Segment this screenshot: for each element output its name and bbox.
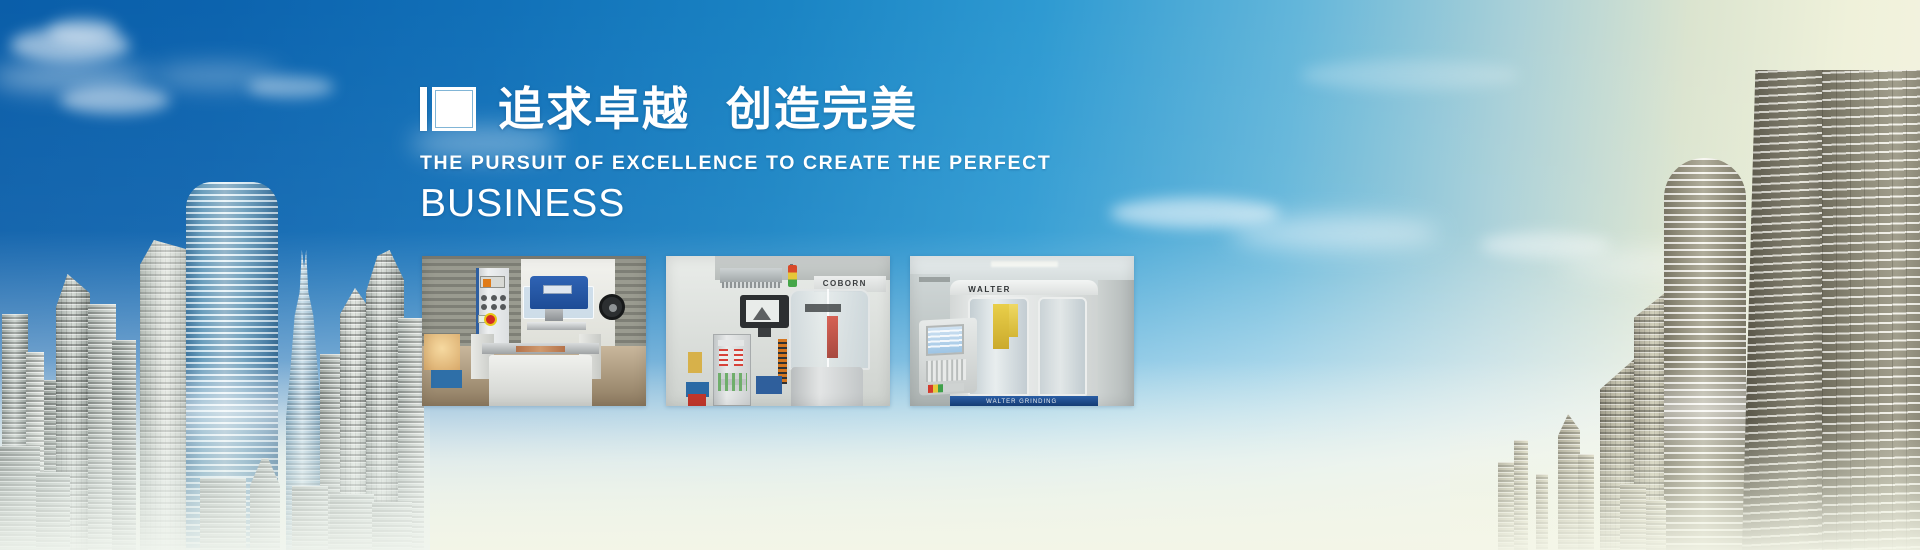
handwheel-icon	[599, 294, 625, 320]
vertical-bar-icon	[420, 87, 427, 131]
left-skyline	[0, 130, 430, 550]
title-row: 追求卓越 创造完美	[420, 86, 1180, 132]
glass-door	[1038, 297, 1087, 396]
photo-coborn-machine[interactable]: COBORN	[666, 256, 890, 406]
cloud-icon	[60, 86, 170, 114]
cloud-icon	[48, 18, 118, 44]
logo-mark	[420, 87, 476, 131]
hero-banner: 追求卓越 创造完美 THE PURSUIT OF EXCELLENCE TO C…	[0, 0, 1920, 550]
signal-tower-icon	[788, 265, 797, 287]
machine-brand-label: COBORN	[823, 279, 867, 288]
console-button-row	[928, 383, 964, 392]
photo-surface-grinder[interactable]	[422, 256, 646, 406]
subtitle-english: THE PURSUIT OF EXCELLENCE TO CREATE THE …	[420, 152, 1180, 175]
machine-brand-label: WALTER	[968, 285, 1011, 294]
orange-display-icon	[480, 276, 505, 288]
machine-base-label: WALTER GRINDING	[986, 399, 1057, 405]
square-outline-icon	[432, 87, 476, 131]
right-skyline	[1450, 70, 1920, 550]
photo-walter-machine[interactable]: WALTER WALTER GRINDING	[910, 256, 1134, 406]
skyline-haze	[1450, 420, 1920, 550]
cloud-icon	[1230, 216, 1440, 250]
skyline-haze	[0, 400, 430, 550]
console-keypad	[926, 358, 966, 381]
emergency-stop-icon	[484, 313, 497, 326]
product-photo-strip: COBORN	[422, 256, 1134, 406]
business-word: BUSINESS	[420, 183, 1180, 226]
monitor-screen	[746, 300, 780, 323]
page-title-chinese: 追求卓越 创造完美	[498, 86, 918, 132]
headline-block: 追求卓越 创造完美 THE PURSUIT OF EXCELLENCE TO C…	[420, 86, 1180, 226]
cloud-icon	[248, 76, 334, 98]
